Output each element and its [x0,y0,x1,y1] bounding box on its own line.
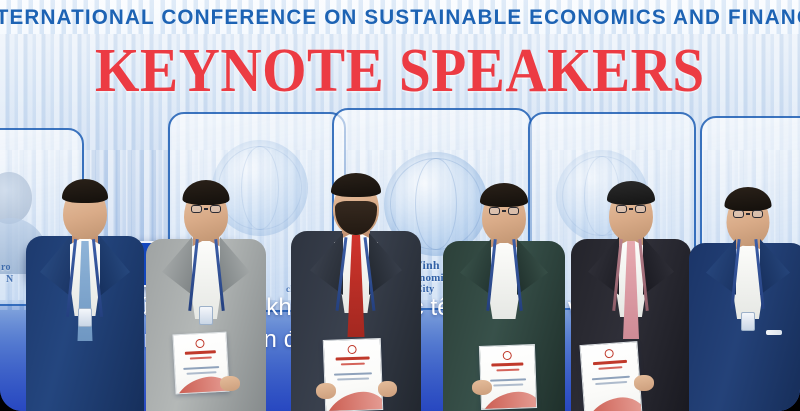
certificate-subtitle-line [496,369,519,372]
certificate-body-line [334,372,372,375]
speaker-3-hand-right [378,381,397,397]
certificate-subtitle-line [598,366,622,370]
speaker-6 [684,125,800,411]
certificate-body-line [595,381,626,385]
speaker-5-certificate [579,341,642,411]
speaker-4-glasses [489,207,519,215]
certificate-seal-icon [347,345,356,354]
backdrop-text-left-fragment-2: N [6,274,13,285]
certificate-subtitle-line [341,363,365,366]
speaker-4 [438,123,570,411]
certificate-title-line [491,362,523,366]
certificate-seal-icon [604,349,614,359]
speaker-3-hair [331,173,381,197]
speaker-2-glasses [191,205,221,213]
certificate-subtitle-line [190,356,212,359]
speaker-2 [140,121,272,411]
certificate-seal-icon [503,351,512,360]
certificate-body-line [592,376,630,381]
speaker-6-glasses [733,210,763,218]
keynote-headline: KEYNOTE SPEAKERS [95,40,705,103]
speaker-1 [20,119,150,411]
certificate-title-line [185,350,216,355]
certificate-title-line [336,356,370,360]
speaker-2-hand [220,376,240,391]
speaker-6-hair [725,187,772,211]
speaker-3-hand-left [316,383,336,399]
speaker-5-hair [607,181,655,205]
speaker-5 [566,121,696,411]
speaker-4-hand [472,380,492,395]
certificate-body-line [490,378,527,381]
certificate-title-line [593,360,627,365]
speaker-4-hair [480,183,528,207]
certificate-body-line [337,377,368,380]
certificate-swoosh-graphic [579,393,642,411]
speaker-3 [286,115,426,411]
certificate-body-line [187,371,216,375]
speaker-5-glasses [616,205,646,213]
speaker-2-name-badge [199,306,213,325]
speaker-3-certificate [323,338,383,411]
speaker-6-pocket-square [766,330,782,335]
conference-header-band: INTERNATIONAL CONFERENCE ON SUSTAINABLE … [0,0,800,34]
conference-banner-card: ần Vinh f Economi inh City chool rn s ro… [0,0,800,411]
speaker-5-hand [634,375,654,391]
keynote-headline-wrapper: KEYNOTE SPEAKERS [0,40,800,102]
backdrop-text-left-fragment-1: ro [1,262,11,273]
speaker-1-hair [62,179,108,203]
conference-title: INTERNATIONAL CONFERENCE ON SUSTAINABLE … [0,5,800,30]
certificate-body-line [184,366,219,370]
certificate-body-line [493,383,523,386]
speaker-1-name-badge [78,308,92,327]
speaker-6-name-badge [741,312,755,331]
speaker-4-certificate [479,344,537,410]
certificate-seal-icon [195,339,204,348]
speaker-2-hair [183,180,230,205]
